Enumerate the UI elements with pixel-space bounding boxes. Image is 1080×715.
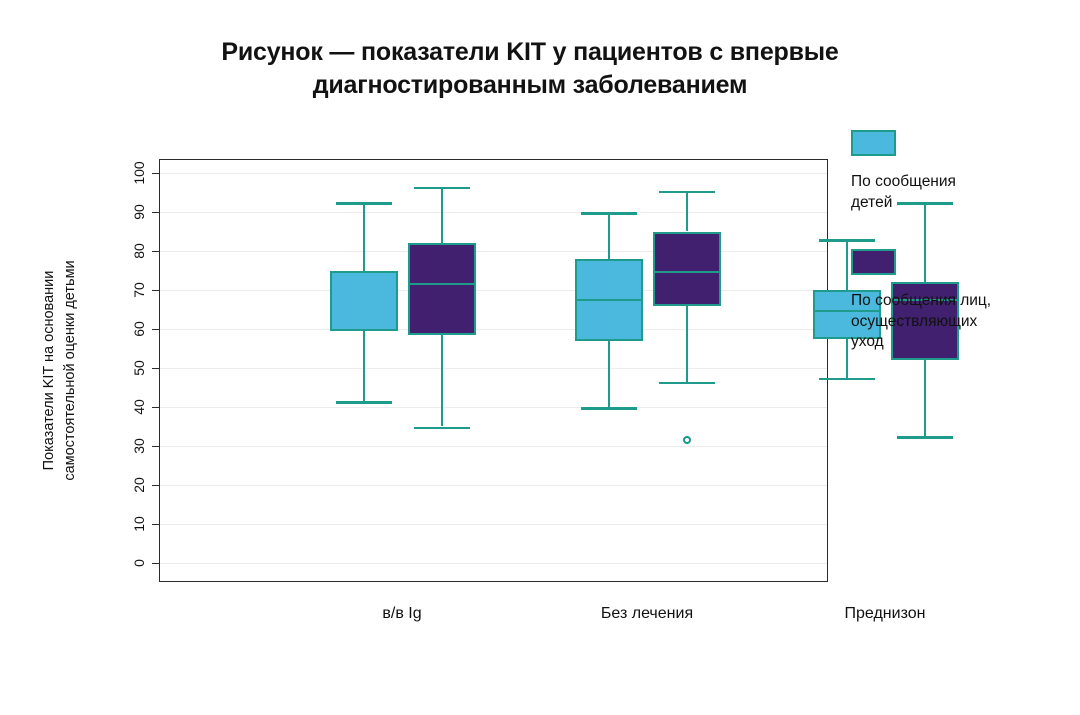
whisker-upper	[846, 239, 848, 290]
median-line	[575, 299, 643, 301]
y-axis-tick	[152, 329, 160, 330]
title-line-2: диагностированным заболеванием	[120, 69, 940, 102]
whisker-cap-lower	[659, 382, 715, 385]
legend-entry-caregivers[interactable]: По сообщения лиц, осуществляющих уход	[851, 249, 1066, 353]
outlier-point[interactable]	[683, 436, 691, 444]
y-axis-tick	[152, 407, 160, 408]
y-axis-tick	[152, 524, 160, 525]
whisker-cap-lower	[336, 401, 392, 404]
gridline	[160, 173, 827, 174]
whisker-cap-upper	[659, 191, 715, 194]
y-axis-tick-label: 90	[126, 212, 152, 213]
gridline	[160, 485, 827, 486]
legend-label-caregivers: По сообщения лиц, осуществляющих уход	[851, 291, 1066, 353]
y-axis-tick-label: 30	[126, 446, 152, 447]
legend-entry-children[interactable]: По сообщения детей	[851, 130, 1066, 213]
whisker-lower	[441, 335, 443, 427]
whisker-upper	[363, 202, 365, 270]
gridline	[160, 290, 827, 291]
y-axis-tick	[152, 212, 160, 213]
whisker-lower	[846, 339, 848, 378]
y-axis-tick	[152, 563, 160, 564]
y-axis-title-line-1: Показатели KIT на основании	[39, 260, 60, 480]
box-plot-box[interactable]	[653, 232, 721, 306]
whisker-cap-upper	[414, 187, 470, 190]
whisker-lower	[686, 306, 688, 382]
x-axis-label: Преднизон	[845, 605, 926, 623]
whisker-cap-lower	[581, 407, 637, 410]
median-line	[408, 283, 476, 285]
x-axis-label: Без лечения	[601, 605, 693, 623]
plot-area: 0102030405060708090100	[159, 159, 828, 582]
y-axis-tick-label: 70	[126, 290, 152, 291]
whisker-upper	[441, 187, 443, 244]
y-axis-tick	[152, 446, 160, 447]
gridline	[160, 212, 827, 213]
y-axis-tick-label: 50	[126, 368, 152, 369]
y-axis-tick	[152, 290, 160, 291]
whisker-lower	[608, 341, 610, 407]
gridline	[160, 563, 827, 564]
legend-swatch-caregivers	[851, 249, 896, 275]
legend-label-children: По сообщения детей	[851, 172, 1066, 213]
gridline	[160, 251, 827, 252]
gridline	[160, 368, 827, 369]
x-axis-label: в/в Ig	[382, 605, 421, 623]
y-axis-title-line-2: самостоятельной оценки детьми	[60, 260, 81, 480]
gridline	[160, 407, 827, 408]
y-axis-tick-label: 10	[126, 524, 152, 525]
y-axis-tick-label: 40	[126, 407, 152, 408]
median-line	[653, 271, 721, 273]
y-axis-tick-label: 100	[126, 173, 152, 174]
page-title: Рисунок — показатели KIT у пациентов с в…	[120, 36, 940, 103]
legend-swatch-children	[851, 130, 896, 156]
whisker-upper	[608, 212, 610, 259]
whisker-upper	[686, 191, 688, 232]
whisker-cap-upper	[336, 202, 392, 205]
y-axis-tick	[152, 173, 160, 174]
whisker-cap-lower	[897, 436, 953, 439]
whisker-cap-lower	[414, 427, 470, 430]
y-axis-tick	[152, 485, 160, 486]
box-plot-box[interactable]	[330, 271, 398, 331]
gridline	[160, 524, 827, 525]
whisker-lower	[363, 331, 365, 401]
y-axis-tick-label: 20	[126, 485, 152, 486]
gridline	[160, 329, 827, 330]
y-axis-tick-label: 0	[126, 563, 152, 564]
whisker-cap-upper	[581, 212, 637, 215]
y-axis-title: Показатели KIT на основании самостоятель…	[32, 159, 88, 582]
title-line-1: Рисунок — показатели KIT у пациентов с в…	[120, 36, 940, 69]
y-axis-tick	[152, 251, 160, 252]
y-axis-tick	[152, 368, 160, 369]
legend: По сообщения детей По сообщения лиц, осу…	[851, 130, 1066, 389]
box-plot-box[interactable]	[408, 243, 476, 335]
gridline	[160, 446, 827, 447]
y-axis-tick-label: 60	[126, 329, 152, 330]
y-axis-tick-label: 80	[126, 251, 152, 252]
